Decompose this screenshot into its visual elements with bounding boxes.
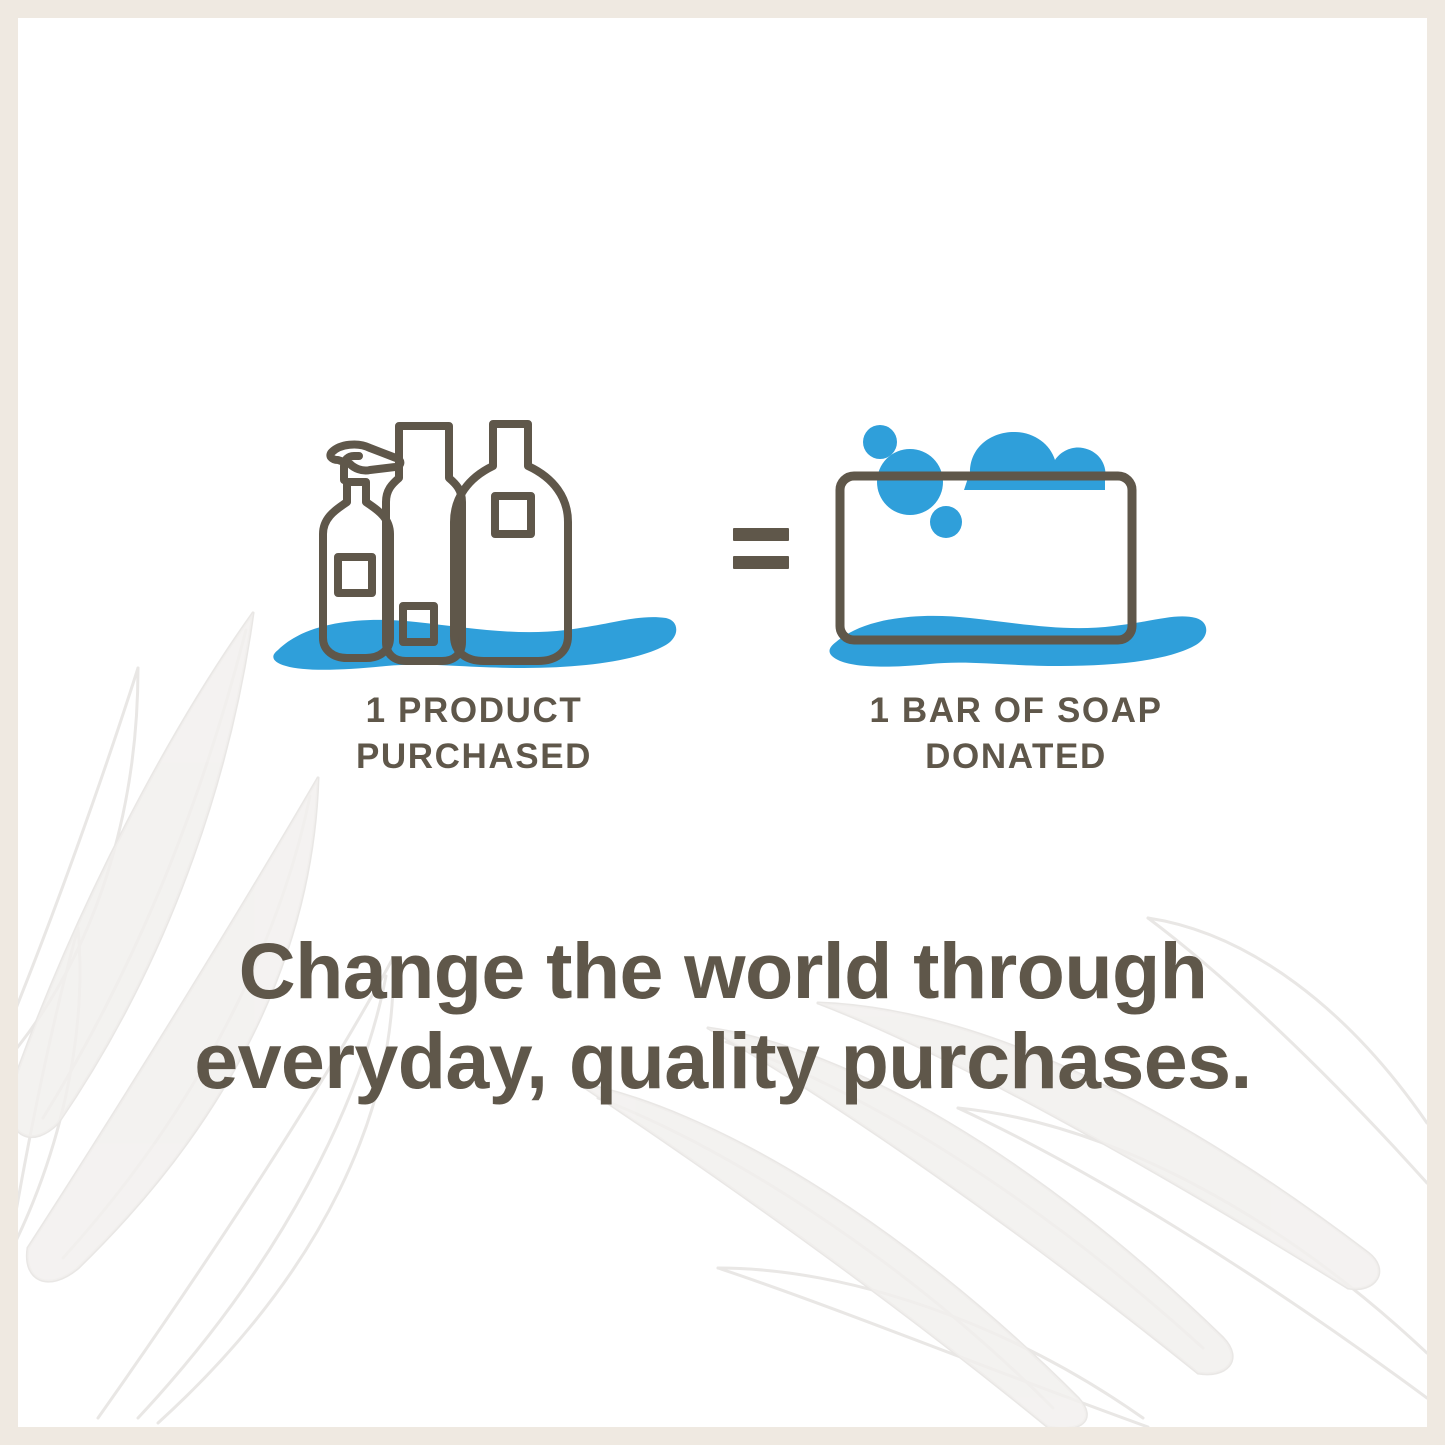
soap-bar-art [818,410,1214,682]
soap-bar-with-bubbles-icon [818,410,1214,682]
equals-bar-bottom [733,556,789,569]
equation-left-item: 1 PRODUCT PURCHASED [266,410,682,780]
equation-right-item: 1 BAR OF SOAP DONATED [818,410,1214,780]
donation-equation: 1 PRODUCT PURCHASED [18,410,1427,810]
bubble-small-top-left [863,425,897,459]
left-caption: 1 PRODUCT PURCHASED [266,688,682,780]
equals-sign-icon [733,528,797,572]
three-bottles-in-puddle-icon [266,410,682,682]
promo-canvas: 1 PRODUCT PURCHASED [18,18,1427,1427]
bubble-small-mid [930,506,962,538]
three-bottles-art [266,410,682,682]
right-caption: 1 BAR OF SOAP DONATED [818,688,1214,780]
page-title: Change the world through everyday, quali… [98,926,1348,1106]
promo-graphic-page: 1 PRODUCT PURCHASED [0,0,1445,1445]
bubble-large [877,449,943,515]
equals-bar-top [733,528,789,541]
foam-cloud [863,425,1106,538]
